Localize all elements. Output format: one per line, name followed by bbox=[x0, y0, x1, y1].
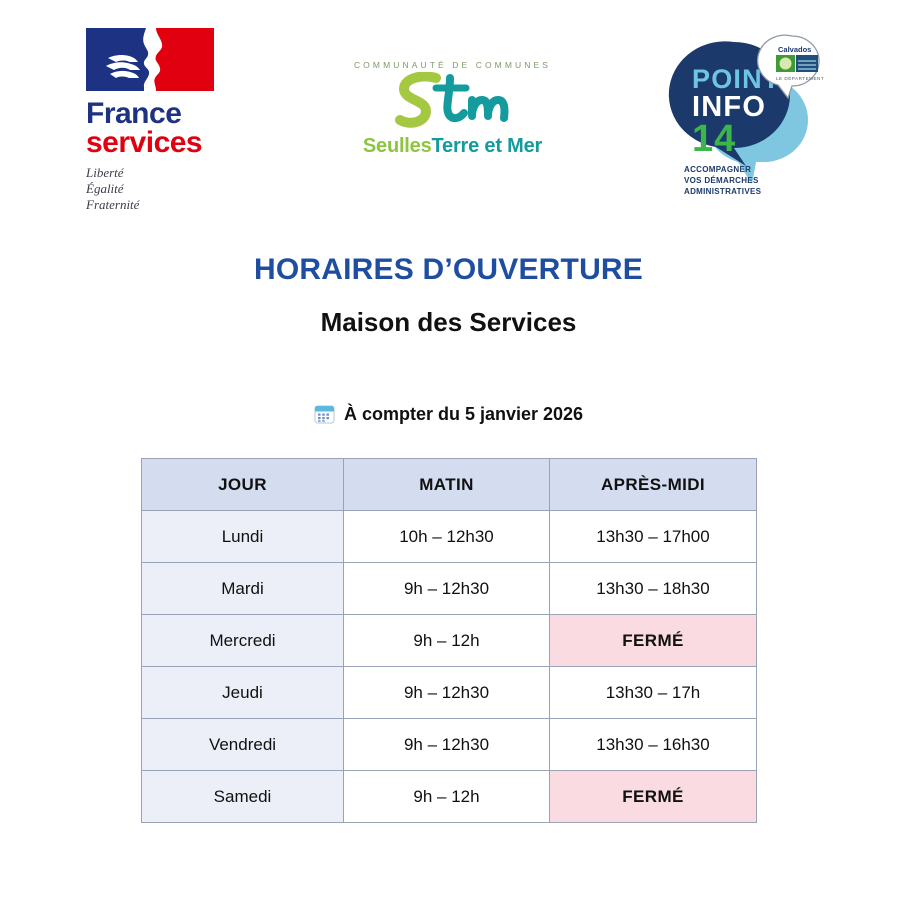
table-row: Mercredi 9h – 12h FERMÉ bbox=[142, 615, 757, 667]
stm-word-terre-et-mer: Terre et Mer bbox=[432, 135, 543, 157]
table-row: Mardi 9h – 12h30 13h30 – 18h30 bbox=[142, 563, 757, 615]
motto-fraternite: Fraternité bbox=[86, 197, 266, 213]
marianne-emblem-icon bbox=[86, 28, 214, 91]
motto-liberte: Liberté bbox=[86, 165, 266, 181]
calendar-icon bbox=[314, 404, 335, 425]
page-title: HORAIRES D’OUVERTURE bbox=[0, 253, 897, 287]
cell-morning: 9h – 12h30 bbox=[344, 719, 550, 771]
table-row: Jeudi 9h – 12h30 13h30 – 17h bbox=[142, 667, 757, 719]
page-subtitle: Maison des Services bbox=[0, 307, 897, 338]
column-header-jour: JOUR bbox=[142, 459, 344, 511]
cell-day: Mercredi bbox=[142, 615, 344, 667]
cell-afternoon: 13h30 – 17h00 bbox=[550, 511, 757, 563]
cell-afternoon-closed: FERMÉ bbox=[550, 771, 757, 823]
svg-text:LE DÉPARTEMENT: LE DÉPARTEMENT bbox=[776, 75, 824, 81]
stm-top-text: Communauté de Communes bbox=[345, 60, 560, 70]
table-row: Samedi 9h – 12h FERMÉ bbox=[142, 771, 757, 823]
cell-day: Vendredi bbox=[142, 719, 344, 771]
cell-afternoon: 13h30 – 16h30 bbox=[550, 719, 757, 771]
cell-day: Lundi bbox=[142, 511, 344, 563]
cell-day: Jeudi bbox=[142, 667, 344, 719]
stm-wordmark: SeullesTerre et Mer bbox=[345, 135, 560, 158]
svg-text:ADMINISTRATIVES: ADMINISTRATIVES bbox=[684, 187, 762, 196]
effective-date-notice: À compter du 5 janvier 2026 bbox=[0, 404, 897, 425]
stm-monogram-icon bbox=[345, 72, 560, 134]
cell-day: Mardi bbox=[142, 563, 344, 615]
cell-day: Samedi bbox=[142, 771, 344, 823]
cell-morning: 9h – 12h bbox=[344, 771, 550, 823]
svg-text:14: 14 bbox=[692, 118, 736, 160]
cell-morning: 9h – 12h bbox=[344, 615, 550, 667]
table-row: Vendredi 9h – 12h30 13h30 – 16h30 bbox=[142, 719, 757, 771]
column-header-matin: MATIN bbox=[344, 459, 550, 511]
cell-afternoon: 13h30 – 18h30 bbox=[550, 563, 757, 615]
point-info-14-logo: POINT INFO 14 Calvados LE DÉPARTEMENT AC… bbox=[668, 26, 828, 201]
opening-hours-table-wrapper: JOUR MATIN APRÈS-MIDI Lundi 10h – 12h30 … bbox=[141, 458, 756, 823]
cell-morning: 10h – 12h30 bbox=[344, 511, 550, 563]
france-services-wordmark: France services bbox=[86, 99, 266, 158]
effective-date-text: À compter du 5 janvier 2026 bbox=[344, 404, 583, 425]
table-row: Lundi 10h – 12h30 13h30 – 17h00 bbox=[142, 511, 757, 563]
cell-morning: 9h – 12h30 bbox=[344, 563, 550, 615]
stm-logo: Communauté de Communes SeullesTerre et M… bbox=[345, 60, 560, 158]
table-header-row: JOUR MATIN APRÈS-MIDI bbox=[142, 459, 757, 511]
svg-text:ACCOMPAGNER: ACCOMPAGNER bbox=[684, 165, 751, 174]
logo-row: France services Liberté Égalité Fraterni… bbox=[0, 0, 897, 215]
fs-line-1: France bbox=[86, 99, 266, 128]
svg-text:VOS DÉMARCHES: VOS DÉMARCHES bbox=[684, 176, 759, 185]
fs-line-2: services bbox=[86, 128, 266, 157]
opening-hours-table: JOUR MATIN APRÈS-MIDI Lundi 10h – 12h30 … bbox=[141, 458, 757, 823]
cell-afternoon-closed: FERMÉ bbox=[550, 615, 757, 667]
france-services-logo: France services Liberté Égalité Fraterni… bbox=[86, 28, 266, 214]
cell-afternoon: 13h30 – 17h bbox=[550, 667, 757, 719]
republic-motto: Liberté Égalité Fraternité bbox=[86, 165, 266, 214]
svg-text:Calvados: Calvados bbox=[778, 45, 811, 54]
motto-egalite: Égalité bbox=[86, 181, 266, 197]
cell-morning: 9h – 12h30 bbox=[344, 667, 550, 719]
column-header-apres-midi: APRÈS-MIDI bbox=[550, 459, 757, 511]
stm-word-seulles: Seulles bbox=[363, 135, 432, 157]
